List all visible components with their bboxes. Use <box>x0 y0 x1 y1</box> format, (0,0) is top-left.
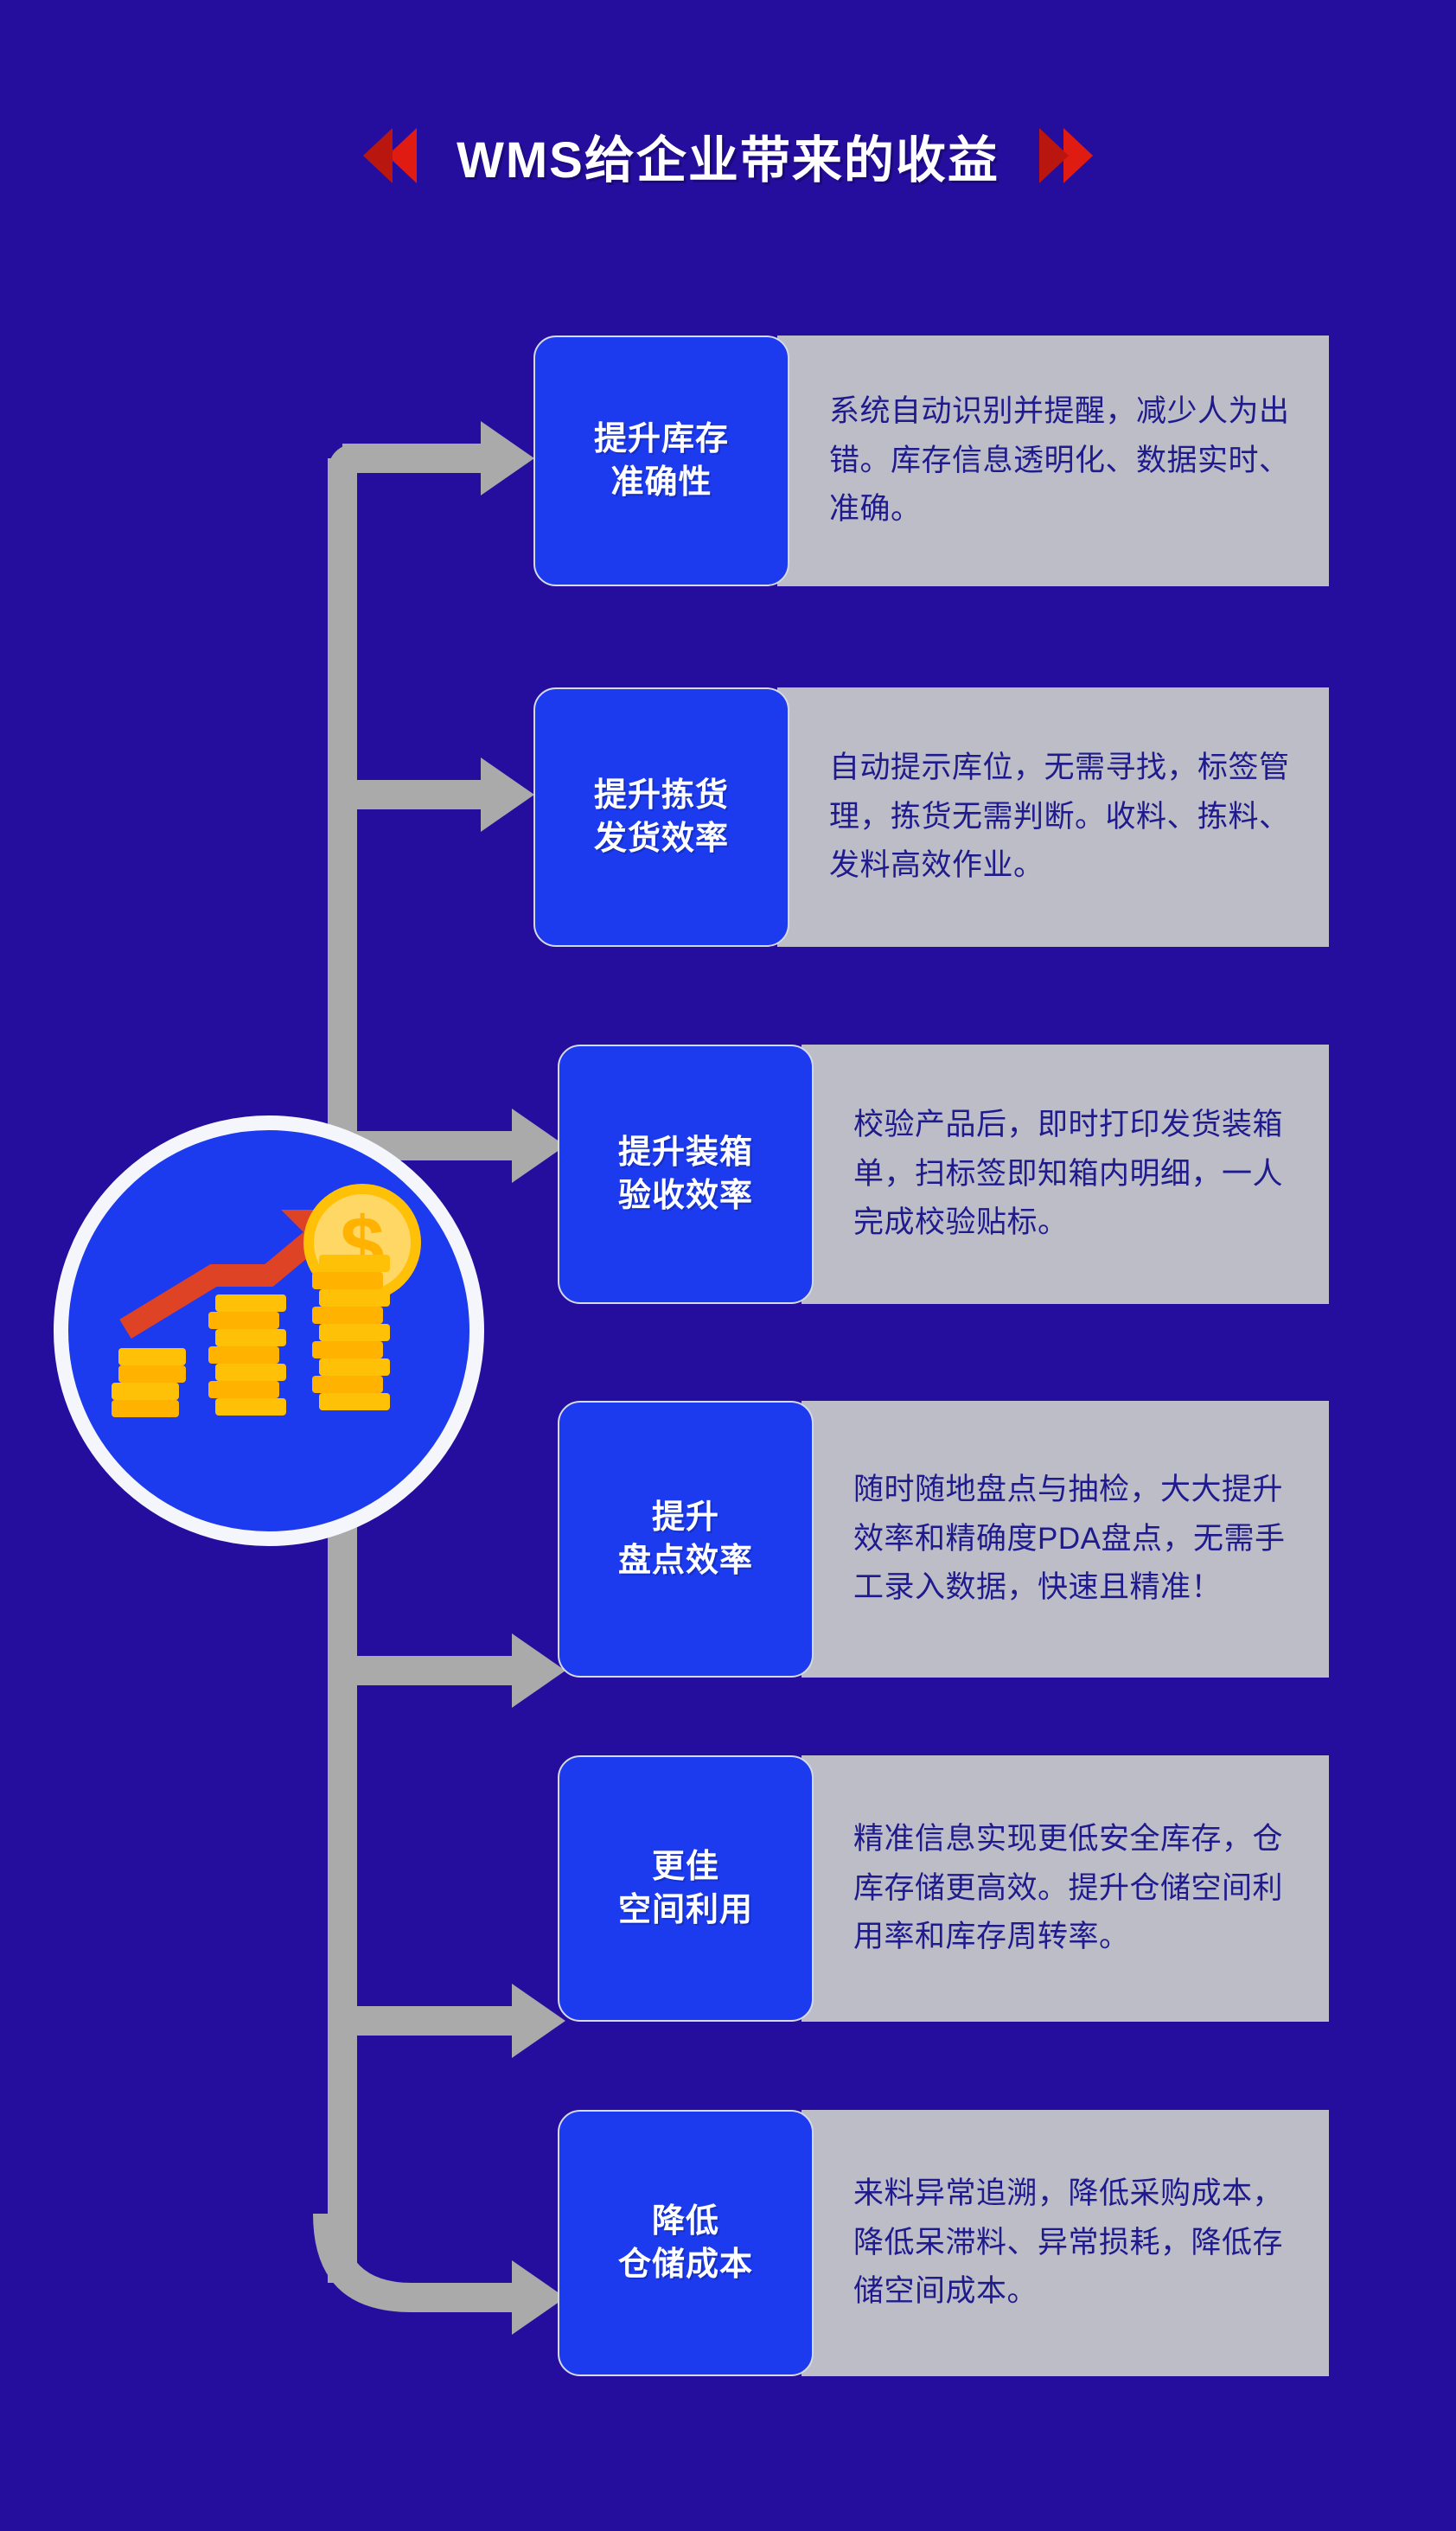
benefit-description: 自动提示库位，无需寻找，标签管理，拣货无需判断。收料、拣料、发料高效作业。 <box>829 744 1306 891</box>
benefit-label-card[interactable]: 更佳 空间利用 <box>558 1755 814 2022</box>
benefit-description-card: 校验产品后，即时打印发货装箱单，扫标签即知箱内明细，一人完成校验贴标。 <box>801 1045 1329 1304</box>
growth-coins-icon: $ <box>54 1115 484 1546</box>
benefit-label: 更佳 空间利用 <box>618 1845 753 1932</box>
benefit-label: 提升装箱 验收效率 <box>618 1131 753 1218</box>
benefit-description-card: 来料异常追溯，降低采购成本，降低呆滞料、异常损耗，降低存储空间成本。 <box>801 2110 1329 2376</box>
double-arrow-right-icon <box>1039 128 1093 183</box>
benefit-label: 提升 盘点效率 <box>618 1496 753 1582</box>
benefit-row: 提升装箱 验收效率 校验产品后，即时打印发货装箱单，扫标签即知箱内明细，一人完成… <box>558 1045 1329 1304</box>
benefit-row: 提升 盘点效率 随时随地盘点与抽检，大大提升效率和精确度PDA盘点，无需手工录入… <box>558 1401 1329 1678</box>
benefit-description: 来料异常追溯，降低采购成本，降低呆滞料、异常损耗，降低存储空间成本。 <box>853 2170 1306 2317</box>
infographic-poster: WMS给企业带来的收益 <box>0 0 1456 2531</box>
benefit-label-card[interactable]: 提升拣货 发货效率 <box>533 687 789 947</box>
benefit-description-card: 随时随地盘点与抽检，大大提升效率和精确度PDA盘点，无需手工录入数据，快速且精准… <box>801 1401 1329 1678</box>
coins-growth-illustration: $ <box>68 1130 469 1531</box>
benefit-row: 提升库存 准确性 系统自动识别并提醒，减少人为出错。库存信息透明化、数据实时、准… <box>533 336 1329 586</box>
benefit-description: 随时随地盘点与抽检，大大提升效率和精确度PDA盘点，无需手工录入数据，快速且精准… <box>853 1466 1306 1613</box>
double-arrow-left-icon <box>363 128 417 183</box>
benefit-description: 校验产品后，即时打印发货装箱单，扫标签即知箱内明细，一人完成校验贴标。 <box>853 1101 1306 1248</box>
page-title: WMS给企业带来的收益 <box>457 119 999 192</box>
benefit-row: 提升拣货 发货效率 自动提示库位，无需寻找，标签管理，拣货无需判断。收料、拣料、… <box>533 687 1329 947</box>
benefit-description: 精准信息实现更低安全库存，仓库存储更高效。提升仓储空间利用率和库存周转率。 <box>853 1815 1306 1962</box>
benefit-description-card: 自动提示库位，无需寻找，标签管理，拣货无需判断。收料、拣料、发料高效作业。 <box>777 687 1329 947</box>
coin-stack-large <box>312 1255 390 1410</box>
coin-stack-medium <box>208 1294 286 1416</box>
benefit-description-card: 系统自动识别并提醒，减少人为出错。库存信息透明化、数据实时、准确。 <box>777 336 1329 586</box>
benefit-label: 提升拣货 发货效率 <box>594 774 729 860</box>
benefit-label-card[interactable]: 降低 仓储成本 <box>558 2110 814 2376</box>
benefit-row: 更佳 空间利用 精准信息实现更低安全库存，仓库存储更高效。提升仓储空间利用率和库… <box>558 1755 1329 2022</box>
benefit-row: 降低 仓储成本 来料异常追溯，降低采购成本，降低呆滞料、异常损耗，降低存储空间成… <box>558 2110 1329 2376</box>
benefit-label-card[interactable]: 提升装箱 验收效率 <box>558 1045 814 1304</box>
benefit-label-card[interactable]: 提升 盘点效率 <box>558 1401 814 1678</box>
benefit-label-card[interactable]: 提升库存 准确性 <box>533 336 789 586</box>
coin-stack-small <box>112 1348 186 1417</box>
benefit-label: 提升库存 准确性 <box>594 418 729 504</box>
title-bar: WMS给企业带来的收益 <box>0 104 1456 208</box>
benefit-description-card: 精准信息实现更低安全库存，仓库存储更高效。提升仓储空间利用率和库存周转率。 <box>801 1755 1329 2022</box>
benefit-description: 系统自动识别并提醒，减少人为出错。库存信息透明化、数据实时、准确。 <box>829 387 1306 534</box>
benefit-label: 降低 仓储成本 <box>618 2200 753 2286</box>
